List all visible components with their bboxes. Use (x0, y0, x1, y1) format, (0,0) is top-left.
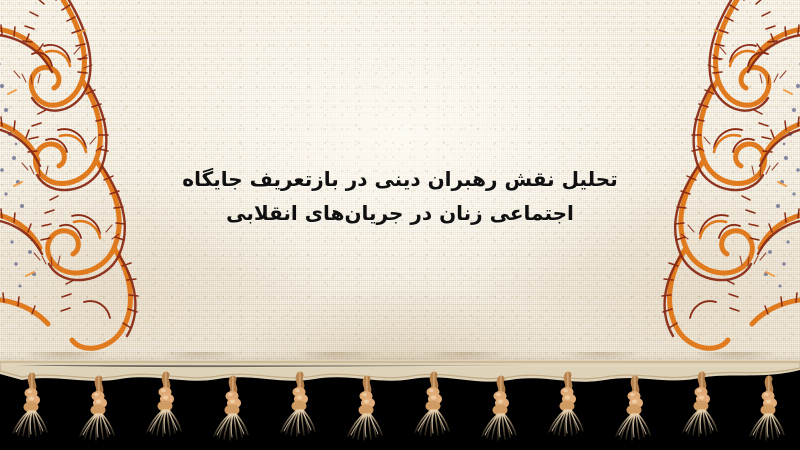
slide-title: تحلیل نقش رهبران دینی در بازتعریف جایگاه… (0, 162, 800, 230)
title-line-1: تحلیل نقش رهبران دینی در بازتعریف جایگاه (0, 162, 800, 196)
tassel-fringe (0, 360, 800, 450)
slide-canvas: تحلیل نقش رهبران دینی در بازتعریف جایگاه… (0, 0, 800, 450)
title-line-2: اجتماعی زنان در جریان‌های انقلابی (0, 196, 800, 230)
